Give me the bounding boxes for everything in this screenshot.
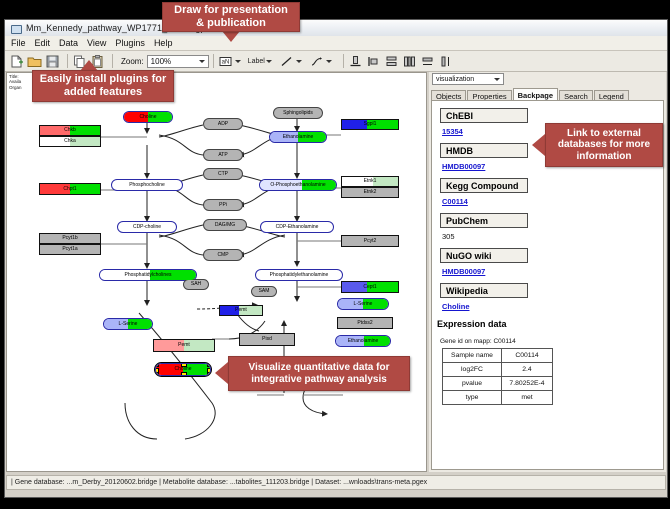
status-bar: | Gene database: ...m_Derby_20120602.bri…: [6, 475, 666, 490]
pvalue-key: pvalue: [443, 377, 502, 391]
zoom-label: Zoom:: [121, 57, 144, 66]
selection-handle[interactable]: [181, 363, 187, 367]
common-width-icon[interactable]: [420, 54, 435, 69]
node-sphingolipids[interactable]: Sphingolipids: [273, 107, 323, 119]
status-text: | Gene database: ...m_Derby_20120602.bri…: [7, 479, 427, 486]
callout-draw-text: Draw for presentation & publication: [169, 4, 293, 29]
node-chka[interactable]: Chka: [39, 136, 101, 147]
callout-plugins-text: Easily install plugins for added feature…: [39, 73, 167, 98]
pubchem-header: PubChem: [440, 213, 528, 228]
zoom-combobox[interactable]: 100%: [147, 55, 209, 68]
table-row: log2FC 2.4: [443, 363, 553, 377]
expression-data-header: Expression data: [437, 319, 663, 329]
node-ethanolamine-top[interactable]: Ethanolamine: [269, 131, 327, 143]
node-ppi[interactable]: PPi: [203, 199, 243, 211]
gene-id-line: Gene id on mapp: C00114: [440, 338, 663, 345]
node-atp[interactable]: ATP: [203, 149, 243, 161]
node-cdp-choline[interactable]: CDP-choline: [117, 221, 177, 233]
zoom-value: 100%: [148, 57, 171, 66]
log2fc-value: 2.4: [502, 363, 553, 377]
node-pcyt1a[interactable]: Pcyt1a: [39, 244, 101, 255]
node-ethanolamine-right[interactable]: Ethanolamine: [335, 335, 391, 347]
menubar: File Edit Data View Plugins Help: [5, 36, 667, 51]
node-l-serine-right[interactable]: L-Serine: [337, 298, 389, 310]
pathway-canvas[interactable]: Title: Availa Organ: [6, 72, 427, 472]
selection-handle[interactable]: [155, 363, 159, 367]
svg-text:aN: aN: [221, 59, 229, 65]
callout-plugins: Easily install plugins for added feature…: [32, 70, 174, 102]
stack-vertical-icon[interactable]: [384, 54, 399, 69]
node-o-phosphoethanolamine[interactable]: O-Phosphoethanolamine: [259, 179, 337, 191]
node-choline-top[interactable]: Choline: [123, 111, 173, 123]
data-node-icon[interactable]: aN: [218, 54, 233, 69]
menu-item-view[interactable]: View: [87, 38, 106, 48]
callout-links: Link to external databases for more info…: [545, 123, 663, 167]
pubchem-value: 305: [442, 232, 663, 241]
toolbar: Zoom: 100% aN Label: [5, 51, 667, 72]
node-pcyt1b[interactable]: Pcyt1b: [39, 233, 101, 244]
interaction-tool-icon[interactable]: [309, 54, 324, 69]
hmdb-header: HMDB: [440, 143, 528, 158]
node-chpt1[interactable]: Chpt1: [39, 183, 101, 195]
node-adp[interactable]: ADP: [203, 118, 243, 130]
callout-links-arrow-icon: [532, 134, 545, 156]
open-folder-icon[interactable]: [27, 54, 42, 69]
wikipedia-header: Wikipedia: [440, 283, 528, 298]
menu-item-plugins[interactable]: Plugins: [115, 38, 145, 48]
window-titlebar: Mm_Kennedy_pathway_WP1771_45176.gpml: [5, 20, 667, 37]
menu-item-file[interactable]: File: [11, 38, 26, 48]
node-ctp[interactable]: CTP: [203, 168, 243, 180]
line-dropdown[interactable]: [297, 54, 305, 68]
type-key: type: [443, 391, 502, 405]
app-icon: [10, 23, 22, 34]
callout-draw-arrow-icon: [222, 31, 240, 42]
node-cept1[interactable]: Cept1: [341, 281, 399, 293]
table-row: pvalue 7.80252E-4: [443, 377, 553, 391]
node-sam[interactable]: SAM: [251, 286, 277, 297]
data-node-dropdown[interactable]: [236, 54, 244, 68]
toolbar-separator-2: [112, 54, 113, 68]
chevron-down-icon: [199, 60, 205, 63]
callout-draw: Draw for presentation & publication: [162, 2, 300, 32]
kegg-link[interactable]: C00114: [442, 197, 663, 206]
nugo-link[interactable]: HMDB00097: [442, 267, 663, 276]
node-cdp-ethanolamine[interactable]: CDP-Ethanolamine: [260, 221, 334, 233]
node-l-serine-left[interactable]: L-Serine: [103, 318, 153, 330]
table-row: type met: [443, 391, 553, 405]
chebi-header: ChEBI: [440, 108, 528, 123]
node-pemt-upper[interactable]: Pemt: [219, 305, 263, 316]
menu-item-data[interactable]: Data: [59, 38, 78, 48]
node-sgpl1[interactable]: Sgpl1: [341, 119, 399, 130]
align-bottom-icon[interactable]: [348, 54, 363, 69]
log2fc-key: log2FC: [443, 363, 502, 377]
save-disk-icon[interactable]: [45, 54, 60, 69]
new-file-icon[interactable]: [9, 54, 24, 69]
label-dropdown[interactable]: [267, 54, 275, 68]
pathway-diagram: Sphingolipids Choline Ethanolamine Phosp…: [7, 73, 427, 472]
sample-name-key: Sample name: [443, 349, 502, 363]
callout-links-text: Link to external databases for more info…: [552, 128, 656, 163]
node-pisd[interactable]: Pisd: [239, 333, 295, 346]
node-etnk2[interactable]: Etnk2: [341, 187, 399, 198]
visualization-combobox[interactable]: visualization: [432, 73, 504, 85]
node-phosphocholine[interactable]: Phosphocholine: [111, 179, 183, 191]
line-tool-icon[interactable]: [279, 54, 294, 69]
wikipedia-link[interactable]: Choline: [442, 302, 663, 311]
sample-name-value: C00114: [502, 349, 553, 363]
menu-item-edit[interactable]: Edit: [35, 38, 51, 48]
node-ptdss2[interactable]: Ptdss2: [337, 317, 393, 329]
node-choline-selected[interactable]: Choline: [155, 363, 211, 376]
node-sah[interactable]: SAH: [183, 279, 209, 290]
selection-handle[interactable]: [181, 372, 187, 376]
table-row: Sample name C00114: [443, 349, 553, 363]
menu-item-help[interactable]: Help: [154, 38, 173, 48]
screenshot-root: Mm_Kennedy_pathway_WP1771_45176.gpml Fil…: [0, 0, 670, 509]
kegg-header: Kegg Compound: [440, 178, 528, 193]
align-left-icon[interactable]: [366, 54, 381, 69]
distribute-horizontal-icon[interactable]: [402, 54, 417, 69]
node-pemt-lower[interactable]: Pemt: [153, 339, 215, 352]
node-phosphatidylethanolamine[interactable]: Phosphatidylethanolamine: [255, 269, 343, 281]
nugo-header: NuGO wiki: [440, 248, 528, 263]
node-phosphatidylcholines[interactable]: Phosphatidylcholines: [99, 269, 197, 281]
toolbar-separator-3: [213, 54, 214, 68]
pvalue-value: 7.80252E-4: [502, 377, 553, 391]
type-value: met: [502, 391, 553, 405]
label-tool-text[interactable]: Label: [248, 58, 265, 65]
visualization-value: visualization: [433, 76, 474, 83]
common-height-icon[interactable]: [438, 54, 453, 69]
expression-table: Sample name C00114 log2FC 2.4 pvalue 7.8…: [442, 348, 553, 405]
node-pcyt2[interactable]: Pcyt2: [341, 235, 399, 247]
callout-visualize: Visualize quantitative data for integrat…: [228, 356, 410, 391]
node-cmp[interactable]: CMP: [203, 249, 243, 261]
toolbar-separator-1: [67, 54, 68, 68]
node-etnk1[interactable]: Etnk1: [341, 176, 399, 187]
node-dag-mg[interactable]: DAG/MG: [203, 219, 247, 231]
callout-visualize-arrow-icon: [215, 362, 228, 384]
interaction-dropdown[interactable]: [327, 54, 335, 68]
toolbar-separator-4: [343, 54, 344, 68]
node-chkb[interactable]: Chkb: [39, 125, 101, 136]
callout-visualize-text: Visualize quantitative data for integrat…: [235, 362, 403, 385]
chevron-down-icon: [494, 78, 500, 81]
